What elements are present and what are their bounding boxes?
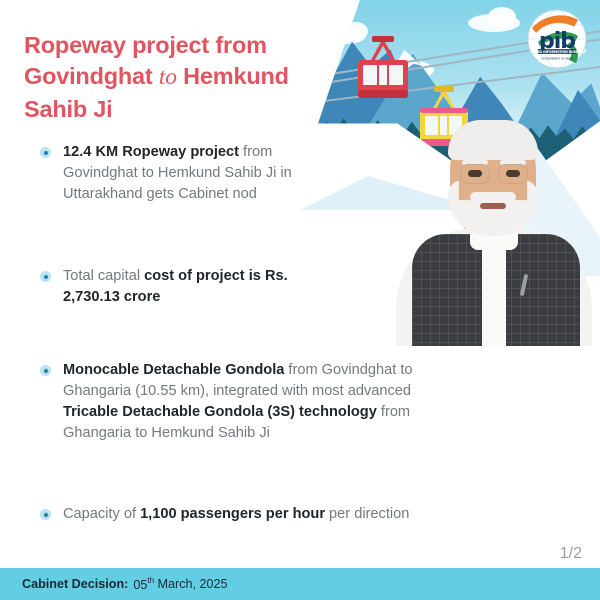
gondola-trolley [372, 36, 394, 42]
portrait-glasses [460, 164, 490, 184]
footer-rest: March, 2025 [154, 578, 228, 592]
bullet-bold: 1,100 passengers per hour [140, 506, 325, 522]
bullet-text: Capacity of 1,100 passengers per hour pe… [63, 504, 409, 525]
red-gondola [356, 40, 410, 102]
bullet-lead: Total capital [63, 268, 144, 284]
cloud-icon [344, 22, 368, 40]
gondola-window [363, 65, 377, 85]
portrait-mouth [480, 203, 506, 209]
infographic-card: pib PRESS INFORMATION BUREAU GOVERNMENT … [0, 0, 600, 600]
portrait-vest [502, 234, 580, 346]
pib-logo: pib PRESS INFORMATION BUREAU GOVERNMENT … [526, 8, 588, 70]
portrait-glasses [498, 164, 528, 184]
bullet-lead: Capacity of [63, 506, 140, 522]
bullet-dot-icon [40, 365, 51, 376]
bullet-item-ropeway-length: 12.4 KM Ropeway project from Govindghat … [40, 142, 320, 205]
portrait-vest [412, 234, 486, 346]
gondola-hanger [370, 40, 396, 62]
page-title: Ropeway project from Govindghat to Hemku… [24, 30, 314, 125]
title-italic-to: to [159, 64, 177, 90]
page-indicator: 1/2 [560, 545, 582, 563]
bullet-text: Monocable Detachable Gondola from Govind… [63, 360, 460, 445]
portrait-hair [448, 120, 538, 160]
pm-portrait [390, 108, 598, 346]
gondola-window [389, 65, 403, 85]
gondola-hanger [432, 90, 456, 110]
portrait-kurta-placket [482, 234, 506, 346]
bullet-dot-icon [40, 509, 51, 520]
gondola-trolley [434, 86, 454, 92]
title-line-3: Sahib Ji [24, 96, 113, 122]
bullet-dot-icon [40, 271, 51, 282]
cloud-icon [488, 7, 516, 27]
bullet-text: Total capital cost of project is Rs. 2,7… [63, 266, 330, 308]
footer-day: 05 [133, 578, 147, 592]
footer-bar: Cabinet Decision:05th March, 2025 [0, 568, 600, 600]
title-line-2b: Hemkund [183, 63, 289, 89]
bullet-item-capacity: Capacity of 1,100 passengers per hour pe… [40, 504, 510, 525]
pib-logo-subtitle: PRESS INFORMATION BUREAU [531, 50, 583, 54]
bullet-rest: per direction [325, 506, 409, 522]
footer-label: Cabinet Decision: [22, 578, 128, 592]
gondola-cabin-band [358, 90, 408, 98]
footer-text: Cabinet Decision:05th March, 2025 [22, 576, 228, 591]
bullet-text: 12.4 KM Ropeway project from Govindghat … [63, 142, 320, 205]
bullet-bold-2: Tricable Detachable Gondola (3S) technol… [63, 404, 377, 420]
pib-logo-gov: GOVERNMENT OF INDIA [541, 57, 573, 61]
bullet-dot-icon [40, 147, 51, 158]
title-line-1: Ropeway project from [24, 32, 267, 58]
gondola-window [379, 65, 387, 85]
bullet-bold-1: Monocable Detachable Gondola [63, 362, 284, 378]
bullet-item-project-cost: Total capital cost of project is Rs. 2,7… [40, 266, 330, 308]
title-line-2a: Govindghat [24, 63, 153, 89]
bullet-bold-lead: 12.4 KM Ropeway project [63, 144, 239, 160]
bullet-item-gondola-technology: Monocable Detachable Gondola from Govind… [40, 360, 460, 445]
